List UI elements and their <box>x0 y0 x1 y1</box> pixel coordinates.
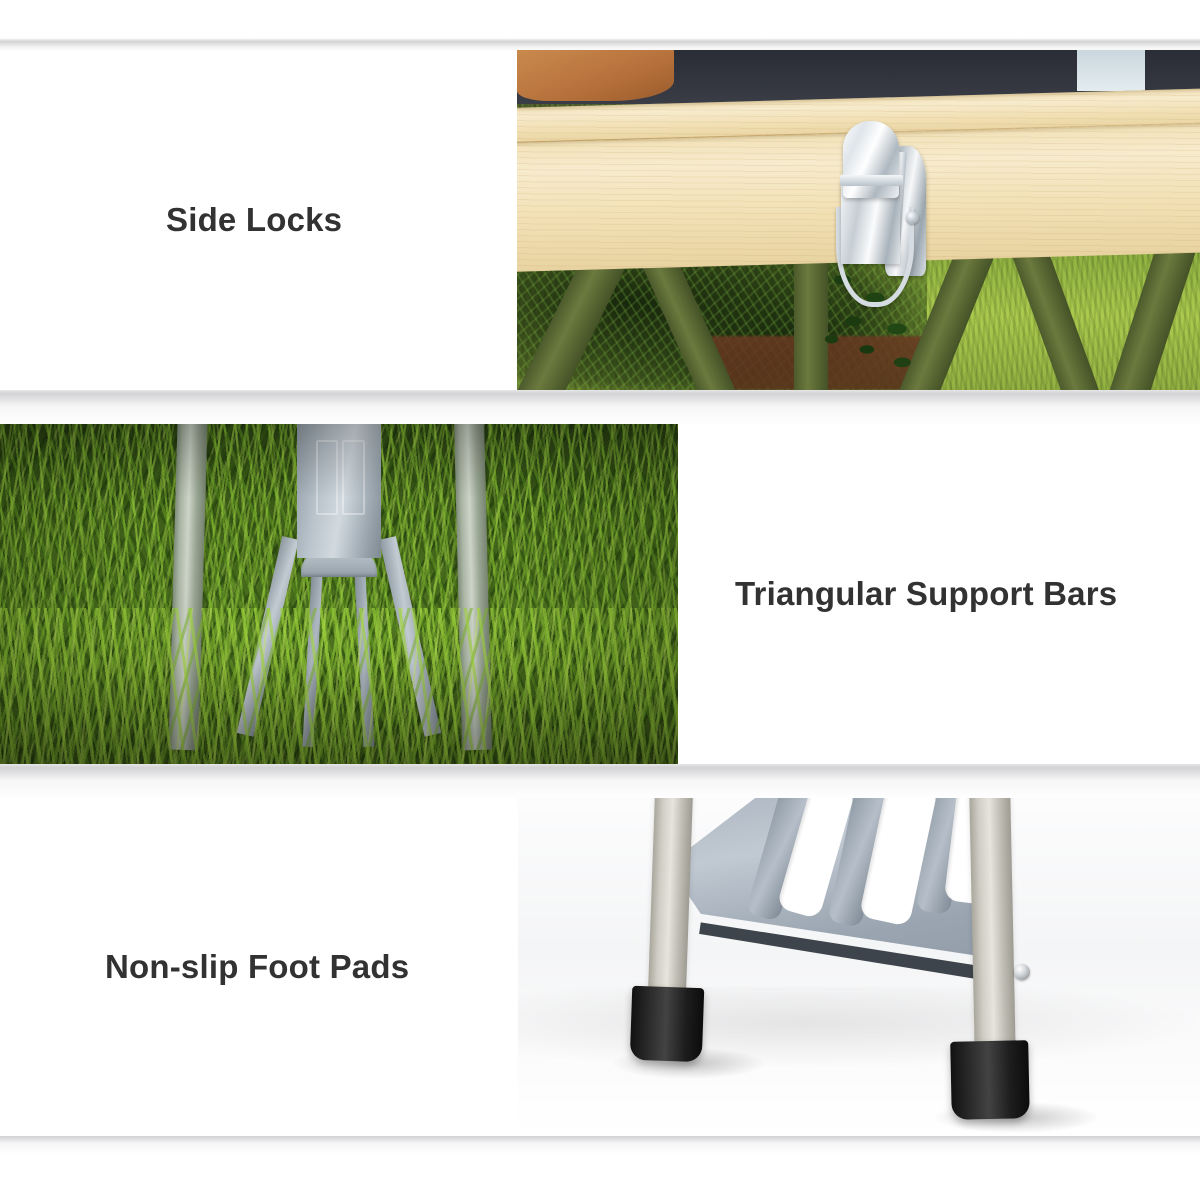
black-foot-pad-left <box>629 986 703 1063</box>
caption-cell-triangular-support-bars: Triangular Support Bars <box>678 424 1200 764</box>
feature-section-triangular-support-bars: Triangular Support Bars <box>0 424 1200 764</box>
side-lock-latch <box>828 121 965 311</box>
black-foot-pad-right <box>950 1041 1030 1120</box>
feature-photo-side-locks <box>517 50 1200 390</box>
latch-pin <box>840 175 903 186</box>
feature-photo-non-slip-foot-pads <box>518 798 1200 1136</box>
latch-mounting-screw <box>906 211 919 224</box>
caption-cell-non-slip-foot-pads: Non-slip Foot Pads <box>0 798 518 1136</box>
feature-section-side-locks: Side Locks <box>0 50 1200 390</box>
aluminium-leg-right <box>969 798 1016 1059</box>
foot-pads-scene <box>518 798 1200 1136</box>
feature-photo-triangular-support-bars <box>0 424 678 764</box>
caption-cell-side-locks: Side Locks <box>0 50 517 390</box>
divider-band-2 <box>0 760 1200 802</box>
feature-section-non-slip-foot-pads: Non-slip Foot Pads <box>0 798 1200 1136</box>
product-feature-infographic: Side Locks <box>0 0 1200 1200</box>
feature-caption-non-slip-foot-pads: Non-slip Foot Pads <box>105 948 409 986</box>
divider-band-1 <box>0 386 1200 428</box>
sky-patch <box>1077 50 1145 91</box>
latch-cap <box>843 121 899 197</box>
person-arm <box>517 50 674 101</box>
grass-scene <box>0 424 678 764</box>
feature-caption-triangular-support-bars: Triangular Support Bars <box>735 575 1117 613</box>
feature-caption-side-locks: Side Locks <box>166 201 342 239</box>
grass-vignette <box>0 424 678 764</box>
side-lock-scene <box>517 50 1200 390</box>
